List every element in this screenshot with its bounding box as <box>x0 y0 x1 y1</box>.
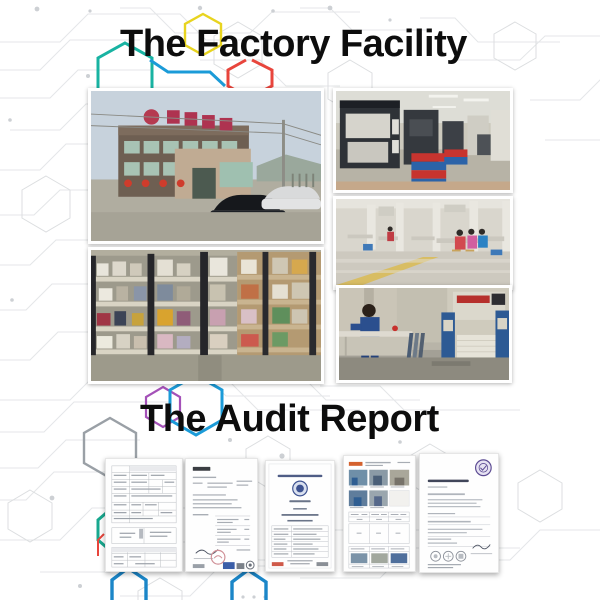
document-test-report-preview <box>186 459 257 571</box>
document-factory-inspection-report[interactable] <box>343 455 416 572</box>
document-factory-inspection-report-preview <box>344 456 415 571</box>
document-test-report[interactable] <box>185 458 258 572</box>
document-verified-supplier-certificate-preview <box>266 461 334 571</box>
document-certificate-of-registration[interactable] <box>419 453 499 573</box>
audit-document-gallery <box>0 0 600 600</box>
document-certificate-of-registration-preview <box>420 454 498 572</box>
section-title-audit: The Audit Report <box>140 398 439 441</box>
section-title-factory: The Factory Facility <box>120 23 467 66</box>
document-audit-form[interactable] <box>105 458 183 572</box>
document-verified-supplier-certificate[interactable] <box>265 460 335 572</box>
poster-page: The Factory Facility The Audit Report <box>0 0 600 600</box>
document-audit-form-preview <box>106 459 182 571</box>
